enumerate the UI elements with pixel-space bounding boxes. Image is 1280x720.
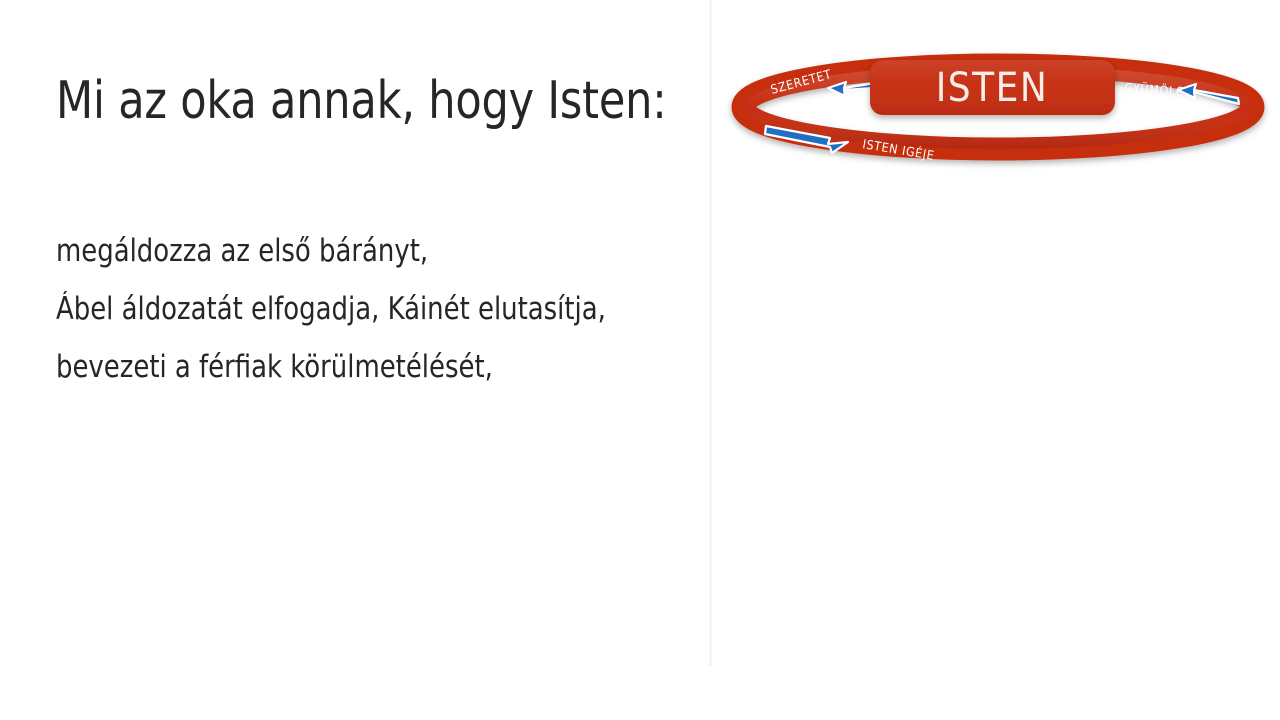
isten-cycle-diagram: ISTEN IGÉJE SZERETET GYÜMÖLCS	[720, 22, 1276, 172]
page-title: Mi az oka annak, hogy Isten:	[56, 72, 626, 130]
body-text-block: megáldozza az első bárányt, Ábel áldozat…	[56, 222, 696, 396]
body-line: bevezeti a férfiak körülmetélését,	[56, 338, 651, 396]
right-diagram-pane: ISTEN IGÉJE SZERETET GYÜMÖLCS	[710, 0, 1280, 720]
body-line: megáldozza az első bárányt,	[56, 222, 651, 280]
body-line: Ábel áldozatát elfogadja, Káinét elutasí…	[56, 280, 651, 338]
isten-box-label: ISTEN	[936, 65, 1049, 111]
slide-canvas: Mi az oka annak, hogy Isten: megáldozza …	[0, 0, 1280, 720]
left-text-pane: Mi az oka annak, hogy Isten: megáldozza …	[0, 0, 710, 720]
